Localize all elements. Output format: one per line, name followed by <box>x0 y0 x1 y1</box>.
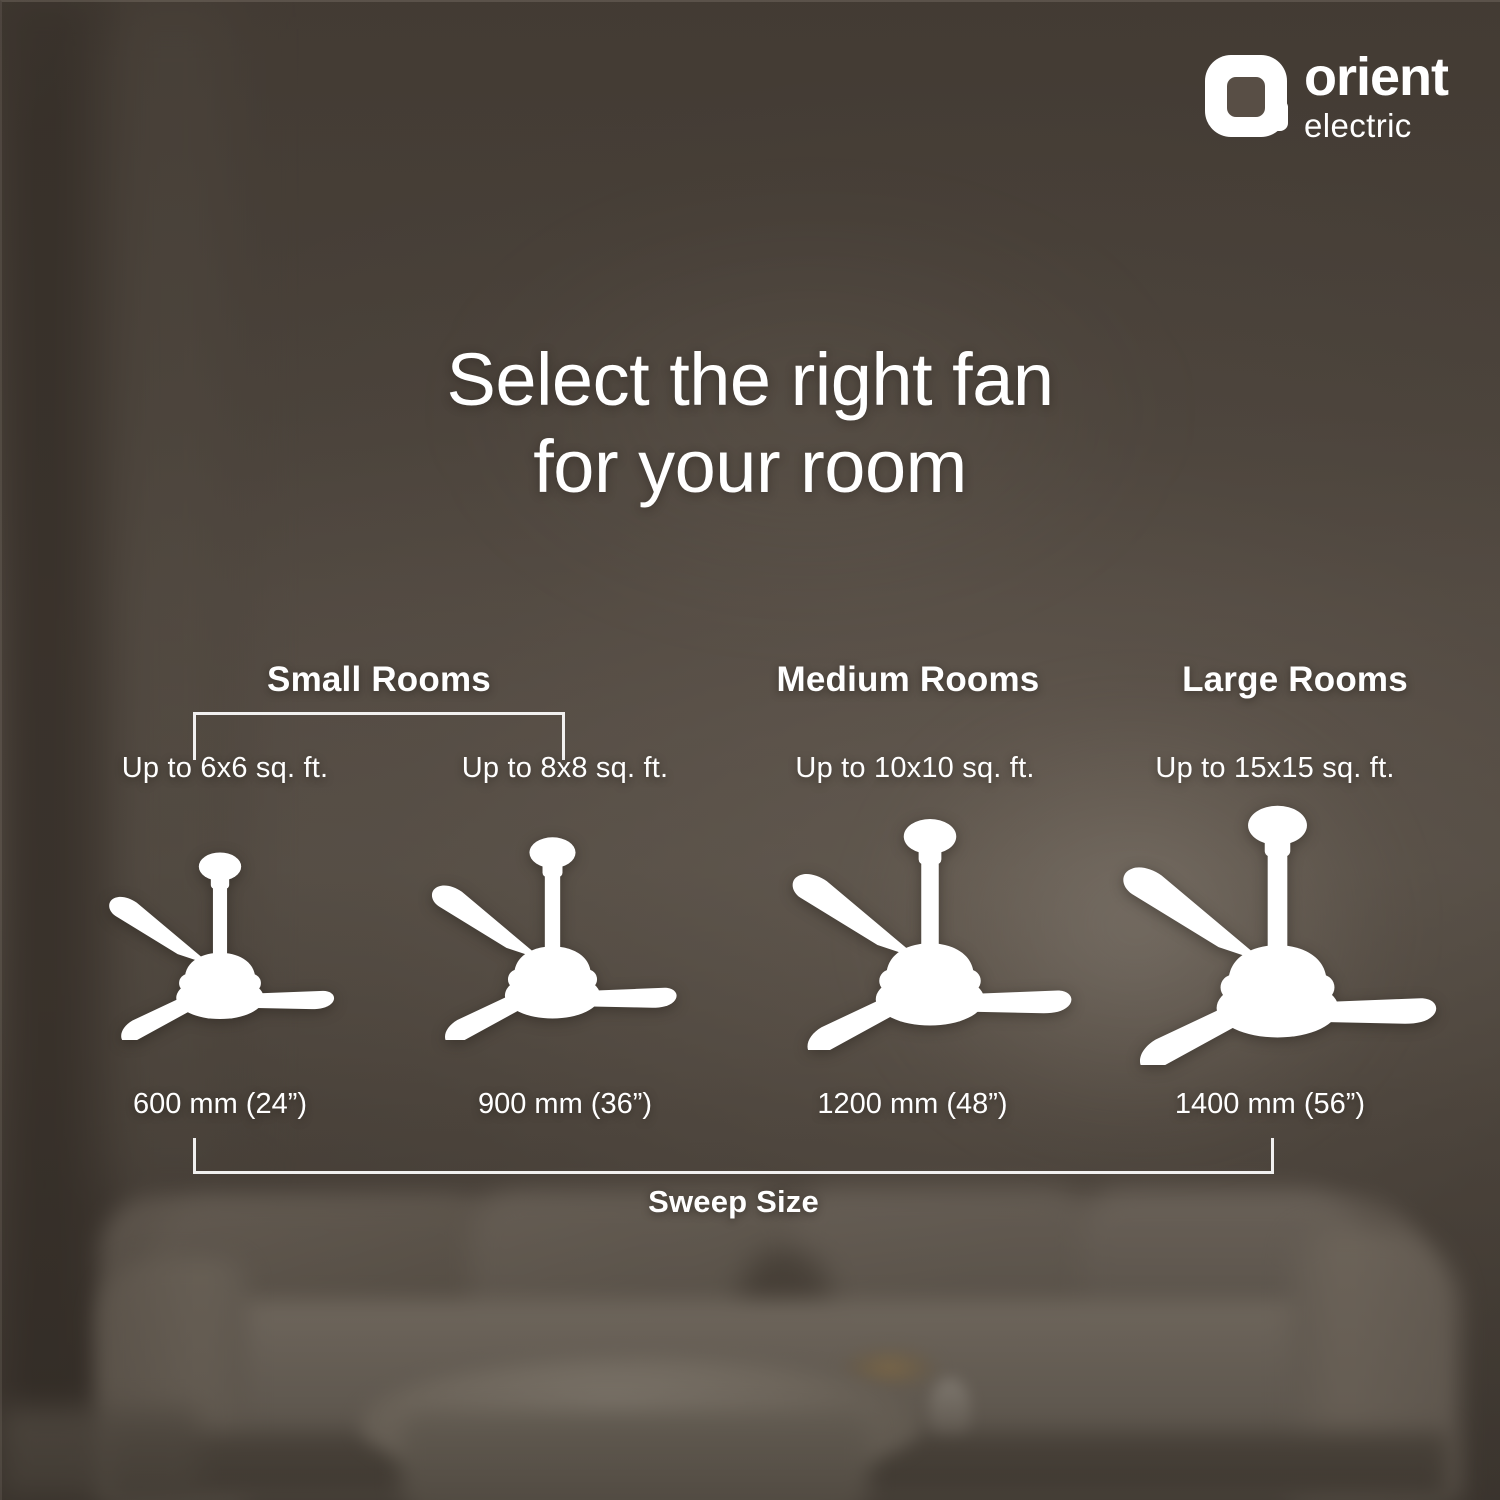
ceiling-fan-icon <box>1105 790 1450 1065</box>
page-title: Select the right fan for your room <box>0 336 1500 511</box>
brand-logo: orient electric <box>1205 50 1448 142</box>
sweep-size-caption-1: 600 mm (24”) <box>55 1088 385 1121</box>
ceiling-fan-icon <box>410 825 695 1040</box>
room-area-caption-1: Up to 6x6 sq. ft. <box>60 752 390 785</box>
ceiling-fan-icon <box>775 805 1085 1050</box>
room-area-caption-3: Up to 10x10 sq. ft. <box>750 752 1080 785</box>
sweep-size-caption-4: 1400 mm (56”) <box>1095 1088 1445 1121</box>
page-title-line-1: Select the right fan <box>0 336 1500 423</box>
sweep-size-bracket <box>193 1138 1274 1174</box>
ceiling-fan-icon <box>100 840 340 1040</box>
page-title-line-2: for your room <box>0 423 1500 510</box>
room-area-caption-2: Up to 8x8 sq. ft. <box>400 752 730 785</box>
fan-size-guide-poster: orient electric Select the right fan for… <box>0 0 1500 1500</box>
brand-tagline: electric <box>1304 109 1448 142</box>
poster-content: orient electric Select the right fan for… <box>0 0 1500 1500</box>
room-group-headings: Small Rooms Medium Rooms Large Rooms <box>0 660 1500 716</box>
room-group-label-small: Small Rooms <box>193 660 565 700</box>
room-group-label-large: Large Rooms <box>1150 660 1440 700</box>
room-group-label-medium: Medium Rooms <box>763 660 1053 700</box>
brand-wordmark: orient electric <box>1304 50 1448 142</box>
sweep-size-caption-3: 1200 mm (48”) <box>745 1088 1080 1121</box>
brand-name: orient <box>1304 50 1448 104</box>
room-area-caption-4: Up to 15x15 sq. ft. <box>1100 752 1450 785</box>
orient-o-mark-icon <box>1205 55 1287 137</box>
sweep-size-caption-2: 900 mm (36”) <box>400 1088 730 1121</box>
sweep-size-axis-label: Sweep Size <box>193 1184 1274 1220</box>
